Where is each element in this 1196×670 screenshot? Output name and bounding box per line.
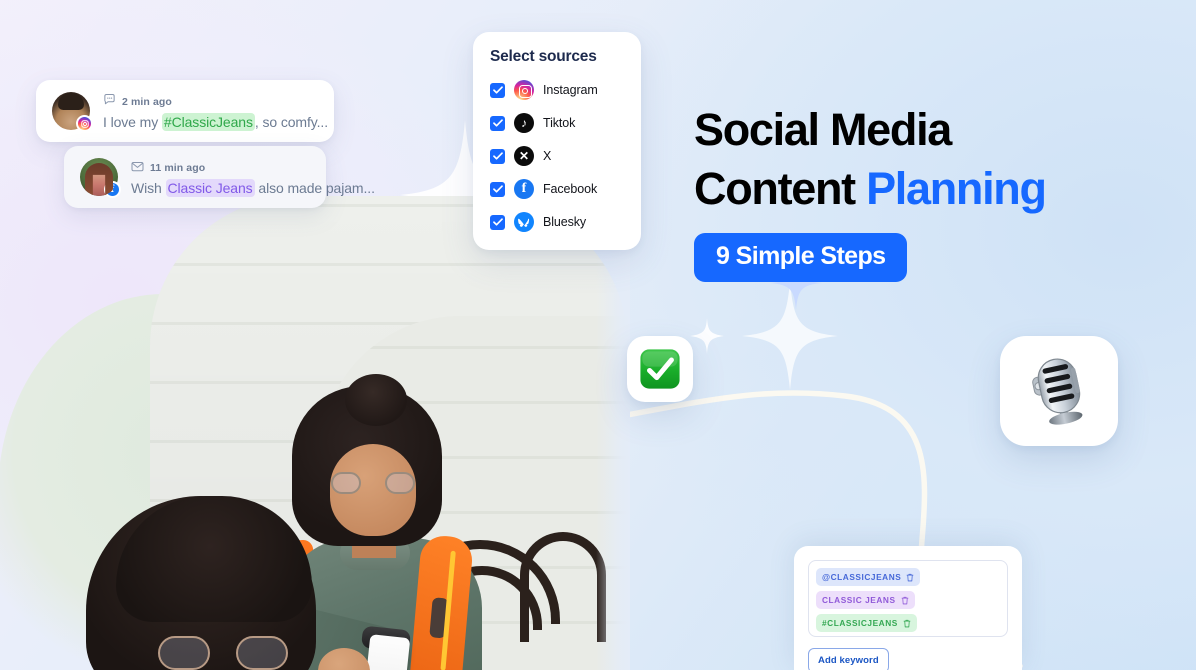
comment-timestamp: 2 min ago (122, 96, 172, 108)
comment-text-after: also made pajam... (255, 180, 375, 196)
source-row-tiktok[interactable]: ♪ Tiktok (490, 113, 624, 133)
source-row-bluesky[interactable]: Bluesky (490, 212, 624, 232)
hero-banner: 2 min ago I love my #ClassicJeans, so co… (0, 0, 1196, 670)
check-mark-tile (627, 336, 693, 402)
comment-text: I love my #ClassicJeans, so comfy... (103, 114, 318, 130)
keyword-label: CLASSIC JEANS (822, 595, 896, 605)
headline-line-2-plain: Content (694, 163, 866, 214)
source-label-bluesky: Bluesky (543, 215, 586, 229)
instagram-icon (514, 80, 534, 100)
glasses-seated (158, 636, 288, 670)
keyword-panel: @CLASSICJEANS CLASSIC JEANS #CLASSICJEAN… (794, 546, 1022, 670)
check-mark-icon (639, 348, 681, 390)
checkbox-instagram[interactable] (490, 83, 505, 98)
photo-edge-fade (596, 196, 630, 670)
add-keyword-button[interactable]: Add keyword (808, 648, 889, 670)
avatar: f (80, 158, 118, 196)
comment-text-before: I love my (103, 114, 162, 130)
comment-text: Wish Classic Jeans also made pajam... (131, 180, 310, 196)
x-icon: ✕ (514, 146, 534, 166)
avatar-person-2 (80, 158, 118, 196)
microphone-tile (1000, 336, 1118, 446)
comment-card[interactable]: f 11 min ago Wish Classic Jeans also mad… (64, 146, 326, 208)
tiktok-icon: ♪ (514, 113, 534, 133)
microphone-icon (1020, 349, 1098, 433)
headline-line-2-accent: Planning (866, 163, 1046, 214)
source-label-facebook: Facebook (543, 182, 597, 196)
checkbox-x[interactable] (490, 149, 505, 164)
photo-content (0, 196, 628, 670)
person-standing-bun (345, 374, 407, 426)
panel-title: Select sources (490, 48, 624, 66)
keyword-chip[interactable]: #CLASSICJEANS (816, 614, 917, 632)
comment-highlight: #ClassicJeans (162, 113, 255, 131)
steps-badge: 9 Simple Steps (694, 233, 907, 282)
keyword-chip[interactable]: CLASSIC JEANS (816, 591, 915, 609)
comment-card[interactable]: 2 min ago I love my #ClassicJeans, so co… (36, 80, 334, 142)
comment-highlight: Classic Jeans (166, 179, 255, 197)
sparkle-icon-tiny (690, 318, 724, 354)
comment-body: 2 min ago I love my #ClassicJeans, so co… (103, 93, 318, 130)
keyword-chip[interactable]: @CLASSICJEANS (816, 568, 920, 586)
source-label-x: X (543, 149, 551, 163)
headline-block: Social Media Content Planning 9 Simple S… (694, 100, 1164, 282)
facebook-icon: f (514, 179, 534, 199)
checkbox-facebook[interactable] (490, 182, 505, 197)
source-label-instagram: Instagram (543, 83, 598, 97)
avatar (52, 92, 90, 130)
comment-meta: 11 min ago (131, 159, 310, 177)
keyword-label: @CLASSICJEANS (822, 572, 901, 582)
bluesky-icon (514, 212, 534, 232)
comment-text-before: Wish (131, 180, 166, 196)
trash-icon[interactable] (903, 619, 911, 628)
trash-icon[interactable] (901, 596, 909, 605)
hero-photo (0, 196, 630, 670)
keyword-label: #CLASSICJEANS (822, 618, 898, 628)
trash-icon[interactable] (906, 573, 914, 582)
sparkle-icon-medium (742, 282, 838, 390)
source-label-tiktok: Tiktok (543, 116, 575, 130)
source-row-instagram[interactable]: Instagram (490, 80, 624, 100)
x-glyph: ✕ (514, 146, 534, 166)
source-row-x[interactable]: ✕ X (490, 146, 624, 166)
envelope-icon (131, 159, 144, 177)
chat-bubble-icon (103, 93, 116, 111)
instagram-badge-icon (76, 115, 93, 132)
keyword-list: @CLASSICJEANS CLASSIC JEANS #CLASSICJEAN… (808, 560, 1008, 637)
source-row-facebook[interactable]: f Facebook (490, 179, 624, 199)
page-title: Social Media Content Planning (694, 100, 1164, 219)
comment-body: 11 min ago Wish Classic Jeans also made … (131, 159, 310, 196)
headline-line-1: Social Media (694, 104, 951, 155)
comment-timestamp: 11 min ago (150, 162, 205, 174)
checkbox-tiktok[interactable] (490, 116, 505, 131)
select-sources-panel: Select sources Instagram ♪ Tiktok ✕ (473, 32, 641, 250)
checkbox-bluesky[interactable] (490, 215, 505, 230)
tiktok-note-glyph: ♪ (514, 113, 534, 133)
comment-meta: 2 min ago (103, 93, 318, 111)
facebook-f-glyph: f (514, 179, 534, 199)
glasses-standing (331, 472, 415, 494)
comment-text-after: , so comfy... (255, 114, 328, 130)
